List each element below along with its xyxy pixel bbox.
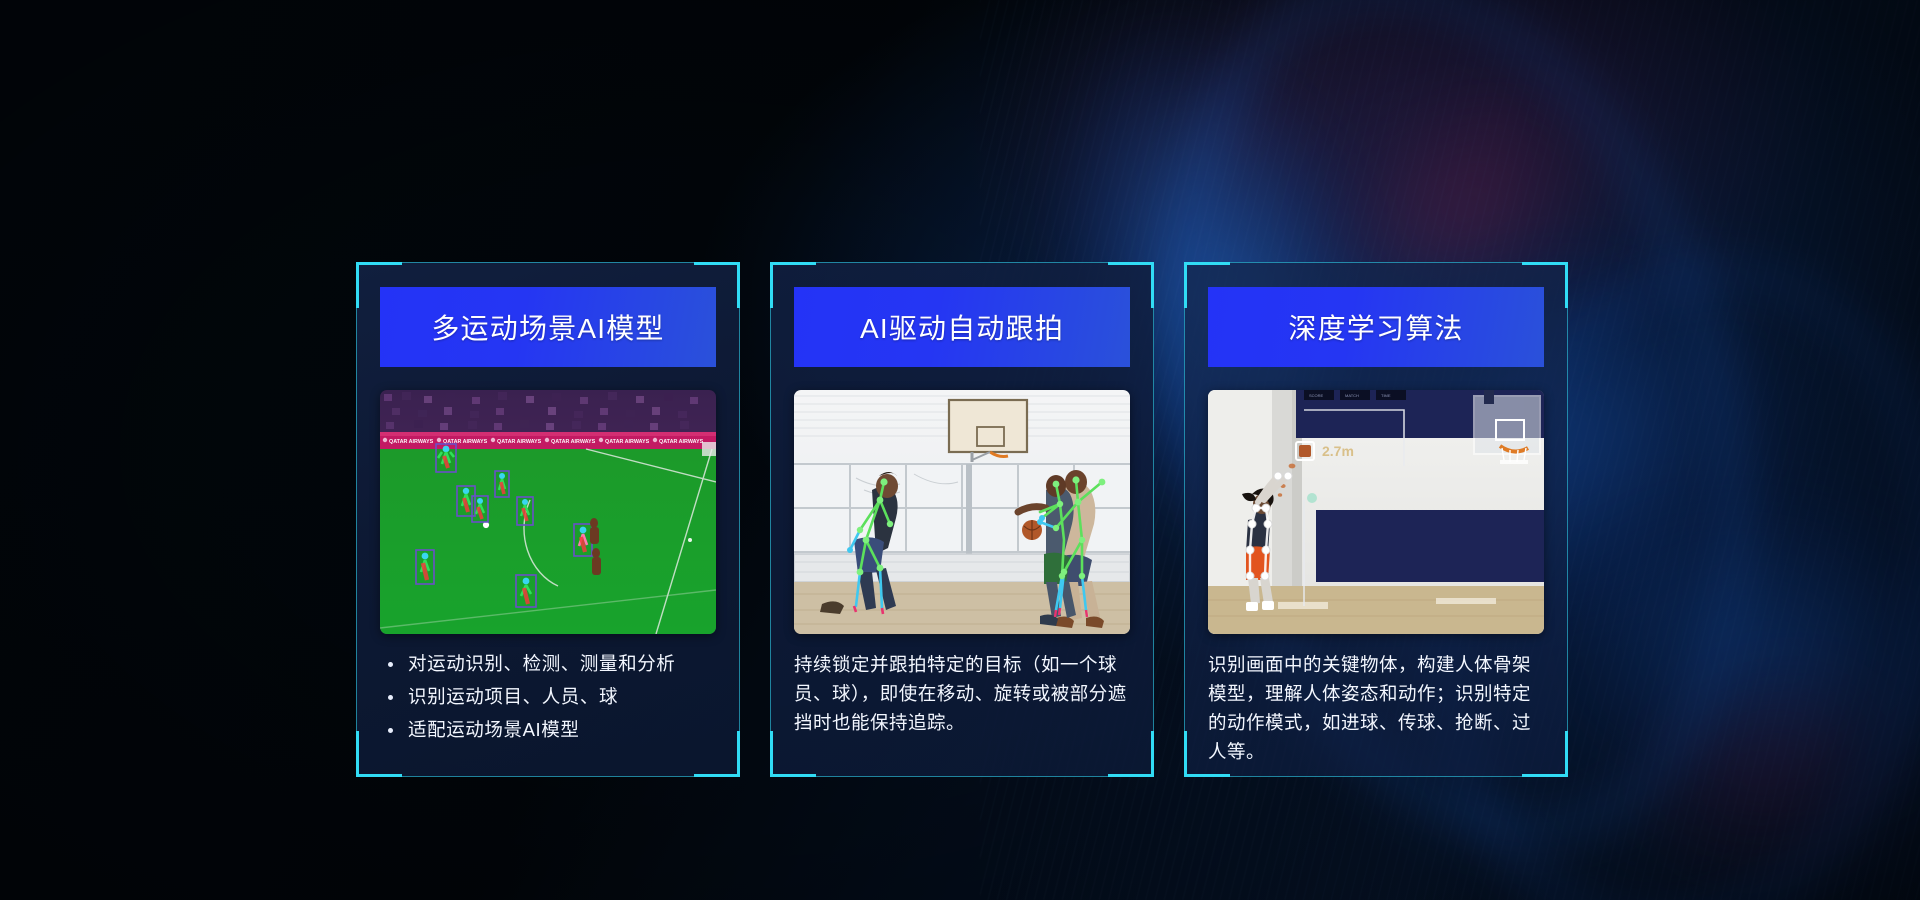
bullet-list: 对运动识别、检测、测量和分析 识别运动项目、人员、球 适配运动场景AI模型 bbox=[380, 650, 718, 744]
svg-text:QATAR AIRWAYS: QATAR AIRWAYS bbox=[605, 439, 650, 445]
list-item: 适配运动场景AI模型 bbox=[380, 716, 718, 744]
feature-card-grid: 多运动场景AI模型 bbox=[356, 262, 1569, 777]
distance-label: 2.7m bbox=[1322, 443, 1354, 459]
feature-card-deep-learning-algorithm[interactable]: 深度学习算法 bbox=[1184, 262, 1568, 777]
card-title-banner: 多运动场景AI模型 bbox=[380, 287, 716, 367]
card-title-text: 多运动场景AI模型 bbox=[431, 307, 664, 347]
list-item: 识别运动项目、人员、球 bbox=[380, 683, 718, 711]
list-item: 对运动识别、检测、测量和分析 bbox=[380, 650, 718, 678]
paragraph-text: 持续锁定并跟拍特定的目标（如一个球员、球），即使在移动、旋转或被部分遮挡时也能保… bbox=[794, 650, 1132, 737]
svg-text:QATAR AIRWAYS: QATAR AIRWAYS bbox=[389, 439, 434, 445]
indoor-court-pose-skeleton-image bbox=[794, 390, 1130, 634]
soccer-field-player-detection-image: QATAR AIRWAYS QATAR AIRWAYS QATAR AIRWAY… bbox=[380, 390, 716, 634]
gym-shot-trajectory-image: SCOREMATCHTIME bbox=[1208, 390, 1544, 634]
svg-text:SCORE: SCORE bbox=[1309, 393, 1324, 398]
slide-stage: 多运动场景AI模型 bbox=[0, 0, 1920, 900]
paragraph-text: 识别画面中的关键物体，构建人体骨架模型，理解人体姿态和动作；识别特定的动作模式，… bbox=[1208, 650, 1546, 766]
card-title-text: 深度学习算法 bbox=[1288, 307, 1463, 347]
svg-text:TIME: TIME bbox=[1381, 393, 1391, 398]
card-title-text: AI驱动自动跟拍 bbox=[860, 307, 1064, 347]
svg-text:QATAR AIRWAYS: QATAR AIRWAYS bbox=[551, 439, 596, 445]
card-title-banner: AI驱动自动跟拍 bbox=[794, 287, 1130, 367]
svg-text:MATCH: MATCH bbox=[1345, 393, 1359, 398]
card-title-banner: 深度学习算法 bbox=[1208, 287, 1544, 367]
svg-text:QATAR AIRWAYS: QATAR AIRWAYS bbox=[659, 439, 704, 445]
card-body-paragraph: 识别画面中的关键物体，构建人体骨架模型，理解人体姿态和动作；识别特定的动作模式，… bbox=[1208, 650, 1546, 766]
card-body-bullets: 对运动识别、检测、测量和分析 识别运动项目、人员、球 适配运动场景AI模型 bbox=[380, 650, 718, 744]
feature-card-multi-sport-ai-model[interactable]: 多运动场景AI模型 bbox=[356, 262, 740, 777]
svg-text:QATAR AIRWAYS: QATAR AIRWAYS bbox=[497, 439, 542, 445]
feature-card-ai-auto-tracking[interactable]: AI驱动自动跟拍 bbox=[770, 262, 1154, 777]
card-body-paragraph: 持续锁定并跟拍特定的目标（如一个球员、球），即使在移动、旋转或被部分遮挡时也能保… bbox=[794, 650, 1132, 737]
